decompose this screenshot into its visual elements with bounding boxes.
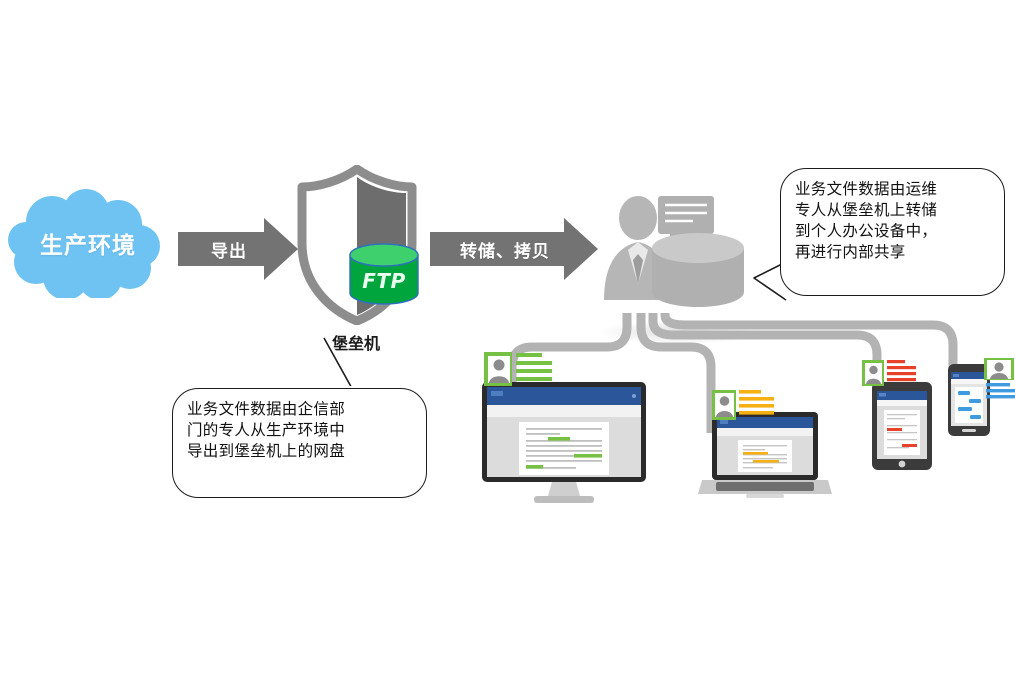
desktop-monitor-device (476, 378, 652, 508)
contact-card-blue (984, 358, 1015, 402)
callout-left: 业务文件数据由企信部 门的专人从生产环境中 导出到堡垒机上的网盘 (172, 388, 427, 498)
arrow-export: 导出 (178, 218, 298, 280)
contact-card-icon (484, 350, 552, 388)
contact-card-icon (712, 388, 774, 422)
callout-left-tail (318, 336, 378, 396)
callout-right-line-4: 再进行内部共享 (795, 242, 990, 263)
contact-card-icon (984, 358, 1015, 402)
diagram-canvas: 生产环境 导出 FTP 堡垒机 转储、拷贝 (0, 0, 1015, 675)
monitor-icon (476, 378, 652, 508)
tablet-device (872, 382, 932, 470)
tablet-icon (872, 382, 932, 470)
contact-card-yellow (712, 388, 774, 422)
ftp-storage: FTP (348, 243, 420, 305)
callout-right-line-1: 业务文件数据由运维 (795, 179, 990, 200)
callout-left-line-2: 门的专人从生产环境中 (187, 420, 412, 441)
contact-card-green (484, 350, 552, 388)
cloud-icon (8, 188, 168, 298)
database-cylinder-icon (348, 243, 420, 305)
contact-card-icon (862, 358, 916, 388)
contact-card-red (862, 358, 916, 388)
callout-left-line-3: 导出到堡垒机上的网盘 (187, 441, 412, 462)
callout-right-line-3: 到个人办公设备中， (795, 221, 990, 242)
laptop-icon (698, 410, 832, 502)
speech-tail-icon (318, 336, 378, 396)
callout-right-line-2: 专人从堡垒机上转储 (795, 200, 990, 221)
arrow-right-icon (178, 218, 298, 280)
callout-left-line-1: 业务文件数据由企信部 (187, 399, 412, 420)
production-environment-cloud: 生产环境 (8, 188, 168, 298)
callout-right: 业务文件数据由运维 专人从堡垒机上转储 到个人办公设备中， 再进行内部共享 (780, 168, 1005, 296)
laptop-device (698, 410, 832, 502)
